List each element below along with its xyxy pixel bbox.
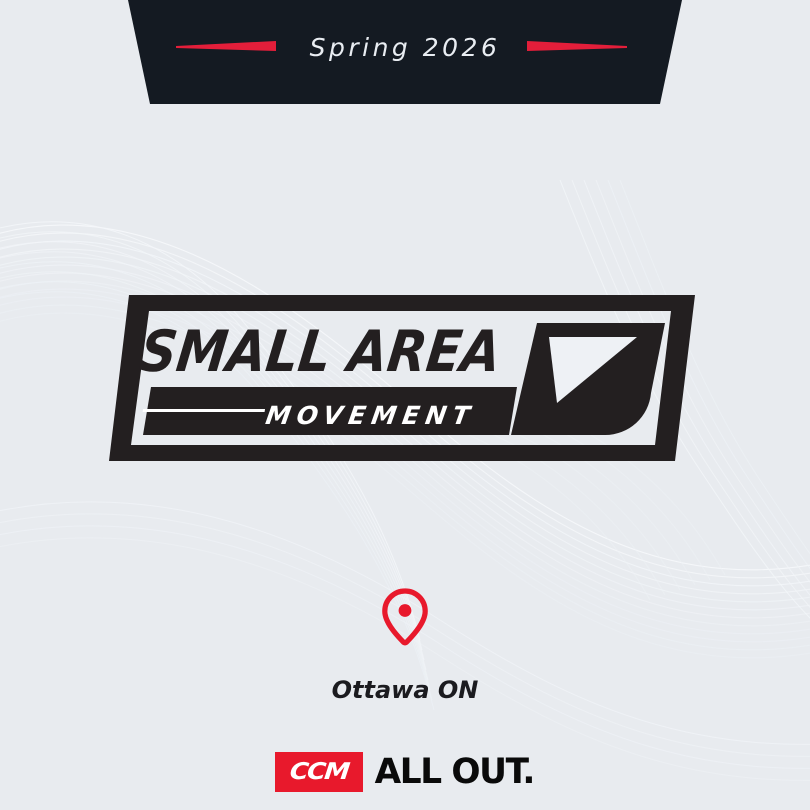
map-pin-icon bbox=[381, 588, 429, 646]
poster-canvas: Spring 2026 SMALL AREA MOVEMENT bbox=[0, 0, 810, 810]
event-logo: SMALL AREA MOVEMENT bbox=[105, 283, 705, 475]
logo-subtitle: MOVEMENT bbox=[264, 401, 478, 430]
header-banner: Spring 2026 bbox=[0, 0, 810, 108]
logo-rule bbox=[143, 409, 265, 412]
stick-blade-emblem bbox=[511, 323, 665, 435]
brand-footer: CCM ALL OUT. bbox=[0, 748, 810, 796]
season-label: Spring 2026 bbox=[0, 33, 810, 63]
logo-title: SMALL AREA bbox=[136, 319, 504, 385]
all-out-tagline: ALL OUT. bbox=[374, 755, 533, 790]
ccm-wordmark: CCM bbox=[288, 761, 349, 784]
ccm-logo-badge: CCM bbox=[275, 752, 363, 792]
location-city-label: Ottawa ON bbox=[0, 676, 810, 704]
